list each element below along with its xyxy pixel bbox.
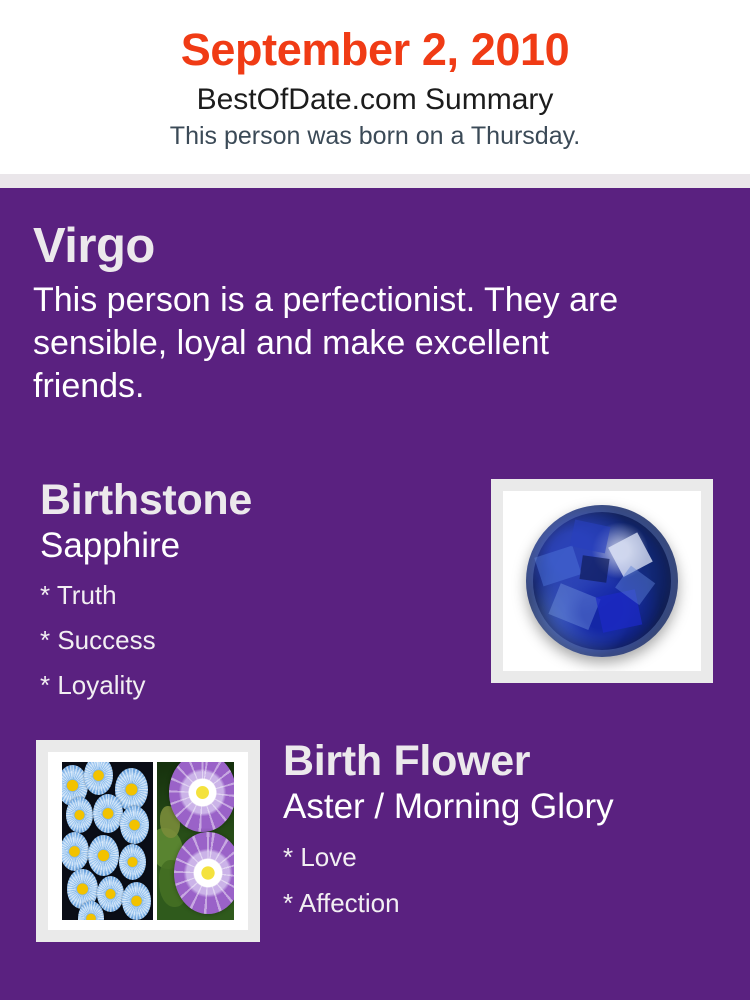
zodiac-description: This person is a perfectionist. They are…	[33, 274, 633, 408]
birthstone-trait-list: * Truth * Success * Loyality	[40, 567, 460, 708]
summary-card: September 2, 2010 BestOfDate.com Summary…	[0, 0, 750, 1000]
sapphire-gem-icon	[526, 505, 678, 657]
birthstone-name: Sapphire	[40, 525, 460, 567]
birth-flower-section: Birth Flower Aster / Morning Glory * Lov…	[283, 736, 723, 926]
list-item: * Success	[40, 618, 460, 663]
list-item: * Affection	[283, 880, 723, 926]
header-divider	[0, 174, 750, 188]
sapphire-gem-photo	[491, 479, 713, 683]
header: September 2, 2010 BestOfDate.com Summary…	[0, 0, 750, 174]
page-title: September 2, 2010	[0, 0, 750, 76]
aster-photo-half	[62, 762, 153, 920]
birth-flower-heading: Birth Flower	[283, 736, 723, 786]
birth-flower-trait-list: * Love * Affection	[283, 828, 723, 926]
zodiac-sign-name: Virgo	[33, 218, 673, 274]
list-item: * Loyality	[40, 663, 460, 708]
morning-glory-photo-half	[157, 762, 234, 920]
flower-collage	[62, 762, 234, 920]
zodiac-section: Virgo This person is a perfectionist. Th…	[33, 218, 673, 408]
list-item: * Truth	[40, 573, 460, 618]
content-panel: Virgo This person is a perfectionist. Th…	[0, 188, 750, 1000]
birth-flower-name: Aster / Morning Glory	[283, 786, 723, 828]
list-item: * Love	[283, 834, 723, 880]
flower-photo-inner	[48, 752, 248, 930]
birthstone-section: Birthstone Sapphire * Truth * Success * …	[40, 475, 460, 708]
sapphire-photo-inner	[503, 491, 701, 671]
gem-rim	[526, 505, 678, 657]
birth-weekday-note: This person was born on a Thursday.	[0, 118, 750, 151]
birth-flower-photo	[36, 740, 260, 942]
site-subtitle: BestOfDate.com Summary	[0, 76, 750, 118]
birthstone-heading: Birthstone	[40, 475, 460, 525]
